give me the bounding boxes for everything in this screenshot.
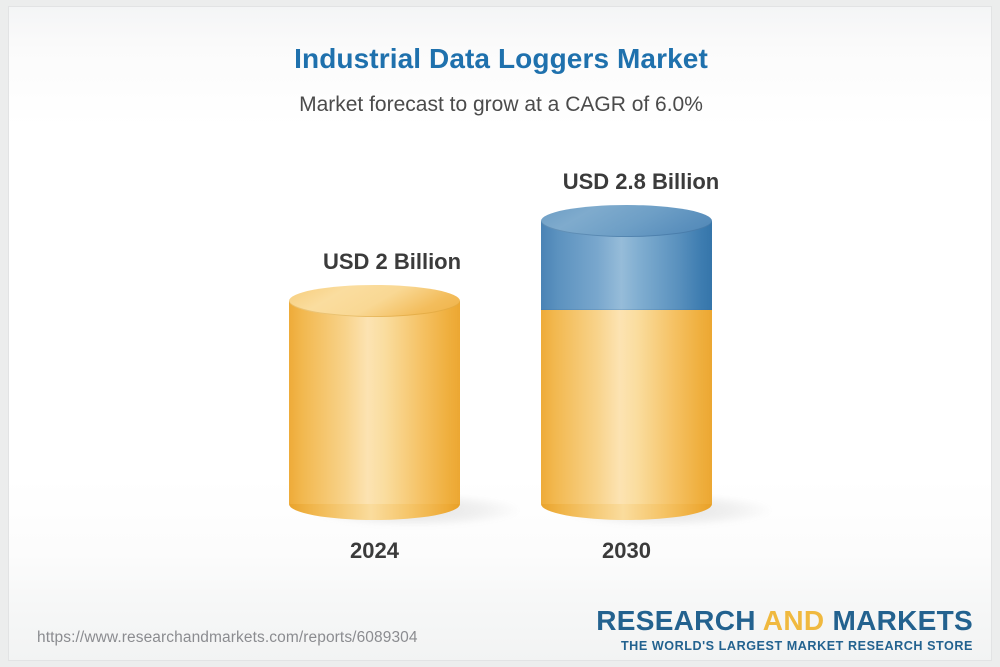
brand-logo: RESEARCH AND MARKETS THE WORLD'S LARGEST… bbox=[596, 607, 973, 653]
bar-value-label-2024: USD 2 Billion bbox=[207, 249, 577, 275]
logo-tagline: THE WORLD'S LARGEST MARKET RESEARCH STOR… bbox=[596, 639, 973, 653]
logo-word-markets: MARKETS bbox=[832, 605, 973, 636]
cylinder-top-2024 bbox=[289, 285, 460, 317]
cylinder-top-2030 bbox=[541, 205, 712, 237]
cylinder-body-base-2030 bbox=[541, 310, 712, 504]
cylinder-segment-divider-2030 bbox=[541, 309, 712, 310]
bar-category-label-2030: 2030 bbox=[459, 538, 794, 564]
logo-wordmark: RESEARCH AND MARKETS bbox=[596, 607, 973, 635]
chart-plot-area: USD 2 Billion 2024 USD 2.8 Billion bbox=[9, 7, 992, 661]
cylinder-body-2024 bbox=[289, 301, 460, 504]
source-url[interactable]: https://www.researchandmarkets.com/repor… bbox=[37, 629, 418, 647]
chart-canvas: Industrial Data Loggers Market Market fo… bbox=[0, 0, 1000, 667]
chart-card: Industrial Data Loggers Market Market fo… bbox=[8, 6, 992, 661]
logo-word-research: RESEARCH bbox=[596, 605, 756, 636]
bar-value-label-2030: USD 2.8 Billion bbox=[456, 169, 826, 195]
logo-word-and: AND bbox=[763, 605, 825, 636]
